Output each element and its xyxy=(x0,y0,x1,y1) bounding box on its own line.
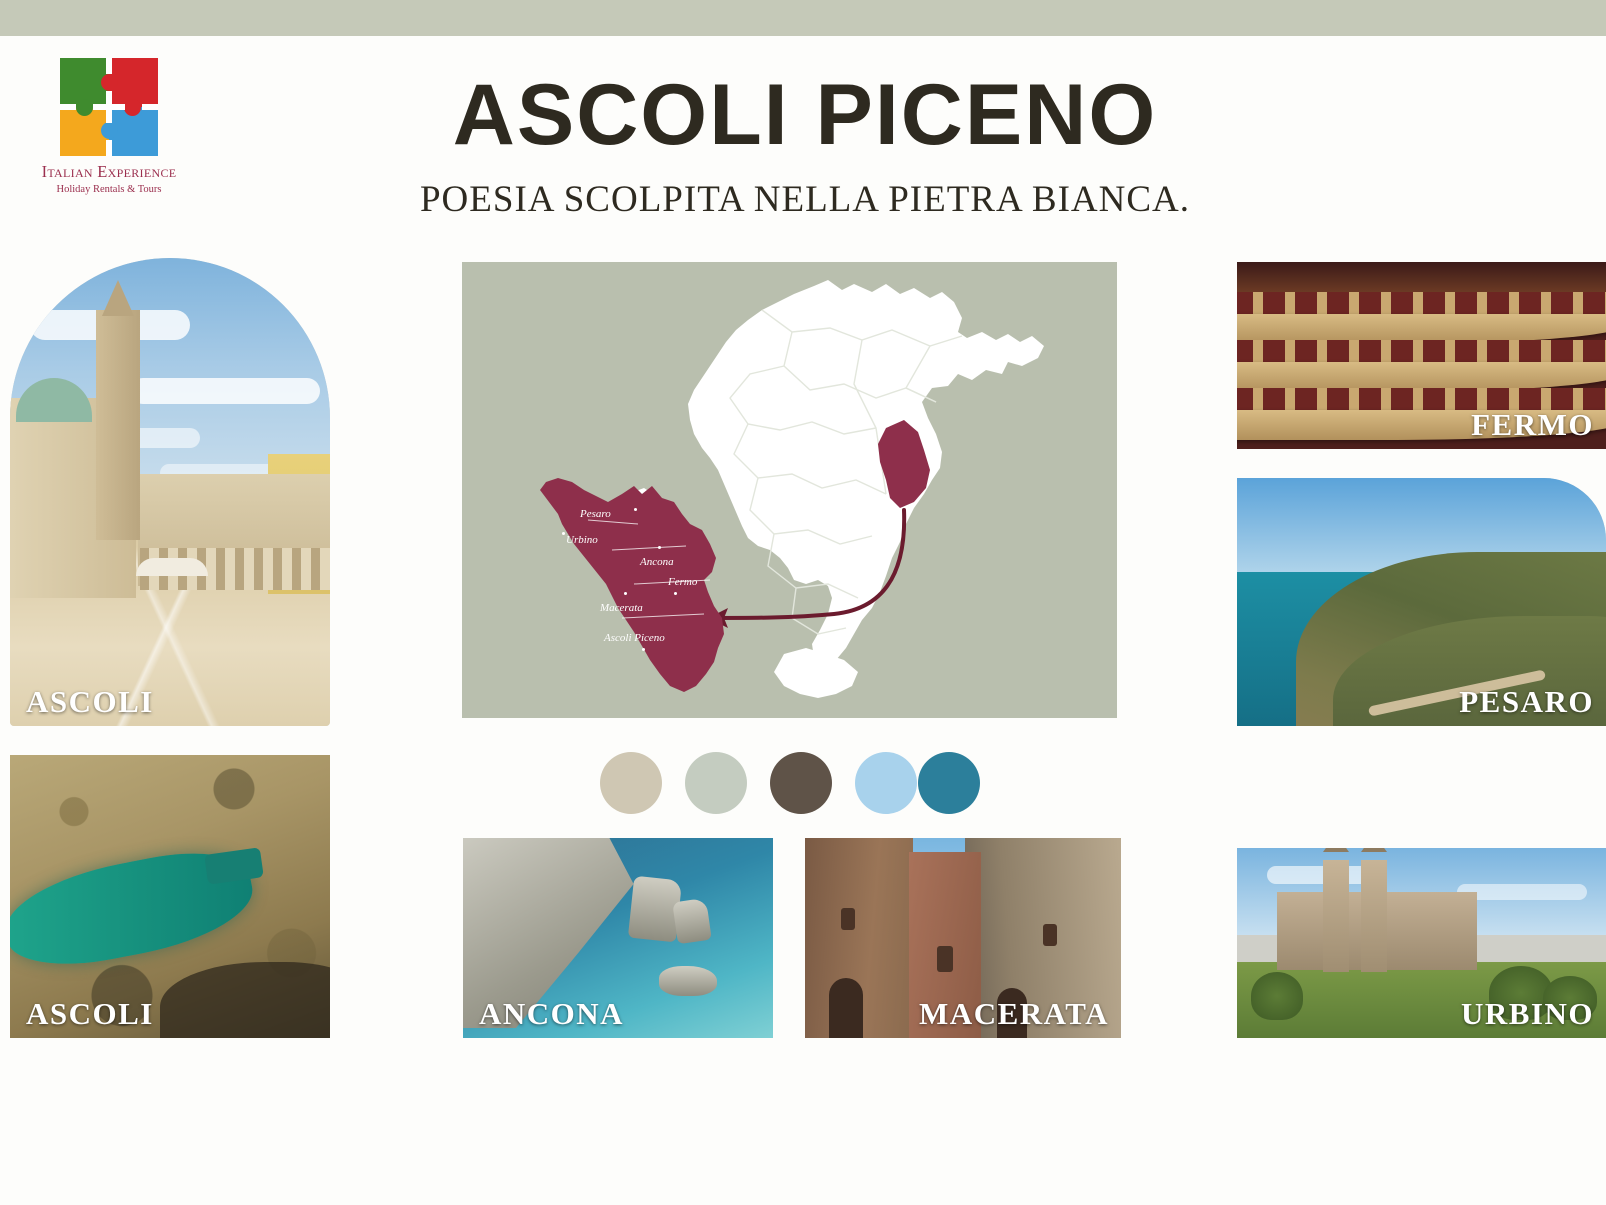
photo-card-ascoli-lake[interactable]: ASCOLI xyxy=(10,755,330,1038)
logo-company-name: Italian Experience xyxy=(14,162,204,182)
logo-tagline: Holiday Rentals & Tours xyxy=(14,184,204,195)
moodboard-canvas: Italian Experience Holiday Rentals & Tou… xyxy=(0,0,1606,1205)
map-label-pesaro: Pesaro xyxy=(580,508,611,520)
photo-caption: URBINO xyxy=(1461,996,1594,1032)
photo-caption: ANCONA xyxy=(479,996,624,1032)
photo-card-ascoli-piazza[interactable]: ASCOLI xyxy=(10,258,330,726)
swatch-beige[interactable] xyxy=(600,752,662,814)
window xyxy=(1043,924,1057,946)
puzzle-logo-icon xyxy=(60,58,158,156)
photo-caption: PESARO xyxy=(1459,684,1594,720)
map-pin-fermo xyxy=(674,592,677,595)
swatch-teal[interactable] xyxy=(918,752,980,814)
sea-stack xyxy=(659,966,717,996)
photo-card-urbino[interactable]: URBINO xyxy=(1237,848,1606,1038)
turret-roof xyxy=(1323,848,1349,852)
italy-map-panel[interactable]: Pesaro Urbino Ancona Fermo Macerata Asco… xyxy=(462,262,1117,718)
map-pin-ancona xyxy=(658,546,661,549)
swatch-sage[interactable] xyxy=(685,752,747,814)
palace-turret xyxy=(1323,860,1349,972)
map-label-fermo: Fermo xyxy=(668,576,697,588)
photo-card-macerata[interactable]: MACERATA xyxy=(805,838,1121,1038)
cafe-umbrella xyxy=(136,558,208,576)
map-pin-macerata xyxy=(624,592,627,595)
palace-turret xyxy=(1361,860,1387,972)
photo-caption: FERMO xyxy=(1471,407,1594,443)
tower-spire xyxy=(102,280,134,316)
page-subtitle: POESIA SCOLPITA NELLA PIETRA BIANCA. xyxy=(360,178,1250,221)
map-pin-urbino xyxy=(562,532,565,535)
cloud-shape xyxy=(130,378,320,404)
bell-tower xyxy=(96,310,140,540)
window xyxy=(841,908,855,930)
map-label-ancona: Ancona xyxy=(640,556,674,568)
turret-roof xyxy=(1361,848,1387,852)
colour-palette xyxy=(600,752,990,818)
top-accent-bar xyxy=(0,0,1606,36)
map-label-urbino: Urbino xyxy=(566,534,598,546)
photo-caption: MACERATA xyxy=(919,996,1109,1032)
swatch-light-blue[interactable] xyxy=(855,752,917,814)
brand-logo[interactable]: Italian Experience Holiday Rentals & Tou… xyxy=(14,58,204,195)
map-pin-pesaro xyxy=(634,508,637,511)
swatch-dark-brown[interactable] xyxy=(770,752,832,814)
tree xyxy=(1251,972,1303,1020)
page-title: ASCOLI PICENO xyxy=(360,72,1250,158)
theatre-ceiling xyxy=(1237,262,1606,292)
photo-caption: ASCOLI xyxy=(26,996,154,1032)
photo-card-fermo[interactable]: FERMO xyxy=(1237,262,1606,449)
photo-card-pesaro[interactable]: PESARO xyxy=(1237,478,1606,726)
marche-region-enlarged xyxy=(462,262,1117,718)
map-pin-ascoli-piceno xyxy=(642,648,645,651)
street-archway xyxy=(829,978,863,1038)
map-label-macerata: Macerata xyxy=(600,602,643,614)
photo-card-ancona[interactable]: ANCONA xyxy=(463,838,773,1038)
window xyxy=(937,946,953,972)
map-label-ascoli-piceno: Ascoli Piceno xyxy=(604,632,665,644)
photo-caption: ASCOLI xyxy=(26,684,154,720)
